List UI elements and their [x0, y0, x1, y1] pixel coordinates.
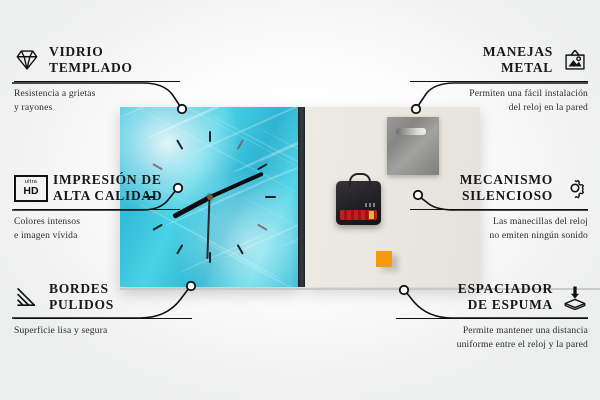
framed-picture-icon [562, 47, 588, 73]
callout-desc-line2: no emiten ningún sonido [489, 230, 588, 241]
diamond-icon [14, 47, 40, 73]
press-down-pad-icon [562, 284, 588, 310]
callout-rule [14, 209, 180, 211]
callout-title-line1: IMPRESIÓN DE [53, 172, 162, 187]
callout-desc-line2: uniforme entre el reloj y la pared [457, 339, 588, 350]
callout-title-line2: TEMPLADO [49, 60, 133, 75]
callout-rule [14, 81, 180, 83]
quartz-movement-box [336, 181, 381, 225]
callout-rule [396, 318, 588, 320]
callout-rule [410, 209, 588, 211]
hanger-slot [396, 128, 426, 135]
callout-desc-line1: Las manecillas del reloj [493, 216, 588, 227]
metal-hanger-plate [387, 117, 439, 175]
callout-title-line1: ESPACIADOR [458, 281, 553, 296]
callout-bordes-pulidos: BORDES PULIDOS Superficie lisa y segura [14, 281, 192, 338]
callout-title-line2: DE ESPUMA [468, 297, 553, 312]
callout-rule [410, 81, 588, 83]
aa-battery [340, 210, 377, 220]
callout-desc-line2: e imagen vívida [14, 230, 78, 241]
callout-vidrio-templado: VIDRIO TEMPLADO Resistencia a grietas y … [14, 44, 180, 114]
badge-large-text: HD [23, 186, 38, 197]
callout-manejas-metal: MANEJAS METAL Permiten una fácil instala… [410, 44, 588, 114]
callout-title-line2: SILENCIOSO [462, 188, 553, 203]
gear-icon [562, 175, 588, 201]
callout-desc-line2: y rayones [14, 102, 52, 113]
callout-desc-line1: Permiten una fácil instalación [469, 88, 588, 99]
callout-title-line1: MANEJAS [483, 44, 553, 59]
panel-edge-seam [298, 107, 305, 287]
callout-impresion-alta-calidad: ultra HD IMPRESIÓN DE ALTA CALIDAD Color… [14, 172, 180, 242]
callout-desc-line1: Superficie lisa y segura [14, 325, 107, 336]
movement-hanging-loop [349, 173, 371, 187]
movement-label [365, 203, 377, 207]
callout-desc-line1: Resistencia a grietas [14, 88, 95, 99]
callout-desc-line1: Permite mantener una distancia [463, 325, 588, 336]
callout-espaciador-espuma: ESPACIADOR DE ESPUMA Permite mantener un… [396, 281, 588, 351]
callout-title-line2: ALTA CALIDAD [53, 188, 162, 203]
callout-desc-line2: del reloj en la pared [509, 102, 588, 113]
polished-edge-lines-icon [14, 284, 40, 310]
callout-title-line1: VIDRIO [49, 44, 103, 59]
callout-title-line1: MECANISMO [460, 172, 553, 187]
infographic-canvas: VIDRIO TEMPLADO Resistencia a grietas y … [0, 0, 600, 400]
callout-title-line2: METAL [501, 60, 553, 75]
ultra-hd-badge-icon: ultra HD [14, 175, 44, 201]
battery-tip [369, 211, 374, 219]
callout-desc-line1: Colores intensos [14, 216, 80, 227]
callout-title-line1: BORDES [49, 281, 109, 296]
clock-center-cap [207, 194, 213, 200]
foam-spacer [376, 251, 392, 267]
callout-title-line2: PULIDOS [49, 297, 114, 312]
callout-rule [14, 318, 192, 320]
callout-mecanismo-silencioso: MECANISMO SILENCIOSO Las manecillas del … [410, 172, 588, 242]
